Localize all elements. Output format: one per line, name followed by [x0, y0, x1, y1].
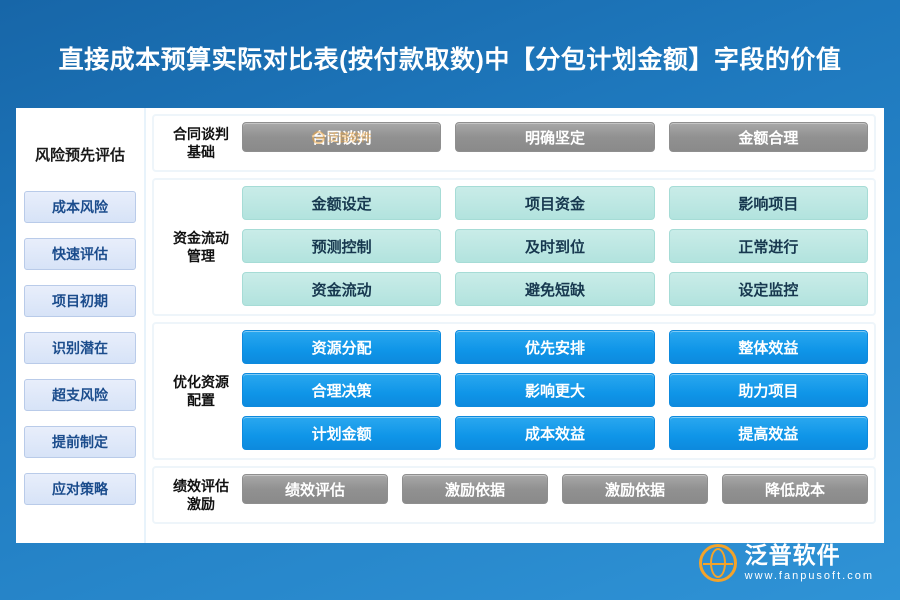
cell-2-7[interactable]: 资金流动	[242, 272, 441, 306]
cell-4-3[interactable]: 激励依据	[562, 474, 708, 504]
cell-1-2[interactable]: 明确坚定	[455, 122, 654, 152]
cell-3-1[interactable]: 资源分配	[242, 330, 441, 364]
brand-name-cn: 泛普软件	[745, 544, 874, 567]
diagram-groups: 合同谈判 基础 合同谈判 泛普软件 明确坚定 金额合理 资金流动 管理	[146, 108, 884, 543]
cell-3-2[interactable]: 优先安排	[455, 330, 654, 364]
group-performance-incentive: 绩效评估 激励 绩效评估 激励依据 激励依据 降低成本	[152, 466, 876, 524]
brand-logo: 泛普软件 www.fanpusoft.com	[699, 544, 874, 582]
rail-chip-1[interactable]: 成本风险	[24, 191, 136, 223]
group-label-2: 资金流动 管理	[160, 229, 242, 265]
rail-chip-5[interactable]: 超支风险	[24, 379, 136, 411]
cell-4-2[interactable]: 激励依据	[402, 474, 548, 504]
cell-3-9[interactable]: 提高效益	[669, 416, 868, 450]
rail-chip-2[interactable]: 快速评估	[24, 238, 136, 270]
cell-3-7[interactable]: 计划金额	[242, 416, 441, 450]
cell-3-5[interactable]: 影响更大	[455, 373, 654, 407]
cell-4-4[interactable]: 降低成本	[722, 474, 868, 504]
cell-3-3[interactable]: 整体效益	[669, 330, 868, 364]
group-cells-1: 合同谈判 泛普软件 明确坚定 金额合理	[242, 122, 868, 164]
brand-url: www.fanpusoft.com	[745, 571, 874, 582]
rail-chip-7[interactable]: 应对策略	[24, 473, 136, 505]
diagram-board: 风险预先评估 成本风险 快速评估 项目初期 识别潜在 超支风险 提前制定 应对策…	[16, 108, 884, 543]
cell-1-1-label: 合同谈判	[312, 127, 372, 148]
rail-chip-6[interactable]: 提前制定	[24, 426, 136, 458]
diagram-page: 直接成本预算实际对比表(按付款取数)中【分包计划金额】字段的价值 风险预先评估 …	[0, 0, 900, 600]
page-title: 直接成本预算实际对比表(按付款取数)中【分包计划金额】字段的价值	[0, 40, 900, 76]
cell-2-4[interactable]: 预测控制	[242, 229, 441, 263]
cell-2-9[interactable]: 设定监控	[669, 272, 868, 306]
cell-2-3[interactable]: 影响项目	[669, 186, 868, 220]
group-resource-optimization: 优化资源 配置 资源分配 优先安排 整体效益 合理决策 影响更大 助力项目 计划…	[152, 322, 876, 460]
brand-text: 泛普软件 www.fanpusoft.com	[745, 544, 874, 582]
group-cells-3: 资源分配 优先安排 整体效益 合理决策 影响更大 助力项目 计划金额 成本效益 …	[242, 330, 868, 452]
rail-heading: 风险预先评估	[35, 144, 125, 165]
rail-chip-4[interactable]: 识别潜在	[24, 332, 136, 364]
group-contract-negotiation: 合同谈判 基础 合同谈判 泛普软件 明确坚定 金额合理	[152, 114, 876, 172]
cell-4-1[interactable]: 绩效评估	[242, 474, 388, 504]
cell-2-2[interactable]: 项目资金	[455, 186, 654, 220]
cell-2-5[interactable]: 及时到位	[455, 229, 654, 263]
group-cells-4: 绩效评估 激励依据 激励依据 降低成本	[242, 474, 868, 516]
cell-2-6[interactable]: 正常进行	[669, 229, 868, 263]
cell-1-3[interactable]: 金额合理	[669, 122, 868, 152]
cell-2-1[interactable]: 金额设定	[242, 186, 441, 220]
cell-3-4[interactable]: 合理决策	[242, 373, 441, 407]
group-label-4: 绩效评估 激励	[160, 477, 242, 513]
cell-3-8[interactable]: 成本效益	[455, 416, 654, 450]
cell-3-6[interactable]: 助力项目	[669, 373, 868, 407]
rail-chip-3[interactable]: 项目初期	[24, 285, 136, 317]
risk-rail: 风险预先评估 成本风险 快速评估 项目初期 识别潜在 超支风险 提前制定 应对策…	[16, 108, 146, 543]
cell-2-8[interactable]: 避免短缺	[455, 272, 654, 306]
cell-1-1[interactable]: 合同谈判 泛普软件	[242, 122, 441, 152]
group-cells-2: 金额设定 项目资金 影响项目 预测控制 及时到位 正常进行 资金流动 避免短缺 …	[242, 186, 868, 308]
group-label-1: 合同谈判 基础	[160, 125, 242, 161]
globe-icon	[699, 544, 737, 582]
group-label-3: 优化资源 配置	[160, 373, 242, 409]
group-fund-flow-management: 资金流动 管理 金额设定 项目资金 影响项目 预测控制 及时到位 正常进行 资金…	[152, 178, 876, 316]
